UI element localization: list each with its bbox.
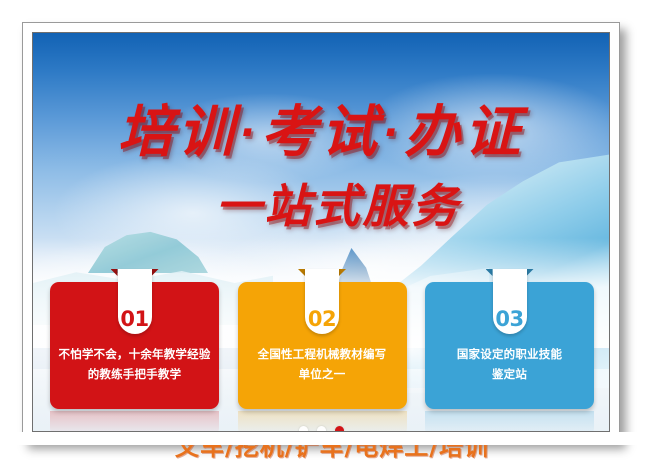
promo-banner[interactable]: 培训·考试·办证 一站式服务 01 不怕学不会，十余年教学经验 [32,32,610,432]
photo-frame: 培训·考试·办证 一站式服务 01 不怕学不会，十余年教学经验 [22,22,620,442]
feature-card-list: 01 不怕学不会，十余年教学经验 的教练手把手教学 02 全国性工程机械教材编写 [50,282,594,412]
card-description-line-2: 的教练手把手教学 [57,364,212,384]
feature-card-03[interactable]: 03 国家设定的职业技能 鉴定站 [425,282,594,409]
banner-headline: 培训·考试·办证 [33,105,609,161]
card-description: 国家设定的职业技能 鉴定站 [432,344,587,384]
card-description-line-2: 单位之一 [245,364,400,384]
banner-subheadline: 一站式服务 [33,183,609,229]
headline-separator-1: · [238,110,261,156]
card-description: 不怕学不会，十余年教学经验 的教练手把手教学 [57,344,212,384]
card-number: 03 [495,309,523,330]
feature-card-01[interactable]: 01 不怕学不会，十余年教学经验 的教练手把手教学 [50,282,219,409]
caption-label: 叉车/挖机/铲车/电焊工/培训 [175,433,489,461]
headline-separator-2: · [381,110,404,156]
card-description-line-1: 全国性工程机械教材编写 [245,344,400,364]
card-number: 02 [308,309,336,330]
headline-part-1: 培训 [118,100,238,165]
caption-text: 叉车/挖机/铲车/电焊工/培训 [0,432,664,464]
feature-card-02[interactable]: 02 全国性工程机械教材编写 单位之一 [238,282,407,409]
card-ribbon: 03 [493,269,527,334]
card-ribbon: 01 [118,269,152,334]
page-background: 培训·考试·办证 一站式服务 01 不怕学不会，十余年教学经验 [0,0,664,464]
card-number: 01 [120,309,148,330]
card-description-line-1: 不怕学不会，十余年教学经验 [57,344,212,364]
card-description-line-2: 鉴定站 [432,364,587,384]
headline-part-3: 办证 [404,100,524,165]
headline-part-2: 考试 [261,100,381,165]
card-description-line-1: 国家设定的职业技能 [432,344,587,364]
card-description: 全国性工程机械教材编写 单位之一 [245,344,400,384]
card-ribbon: 02 [305,269,339,334]
